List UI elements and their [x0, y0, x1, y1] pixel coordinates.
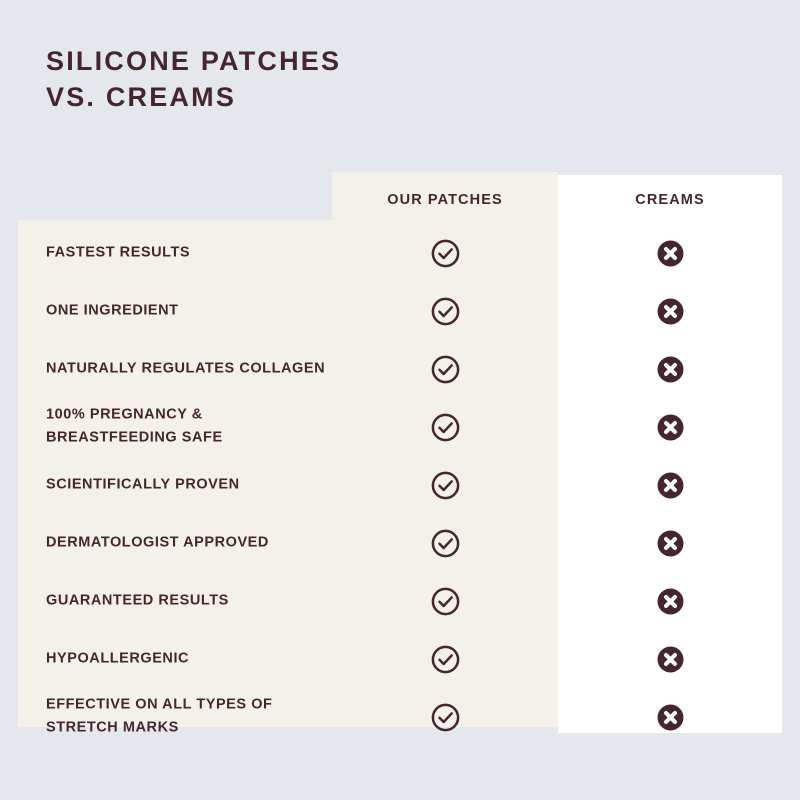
cell-patches-7 [332, 642, 558, 676]
check-circle-icon [430, 644, 461, 675]
comparison-table: OUR PATCHES CREAMS FASTEST RESULTS ONE I… [0, 0, 800, 800]
cell-creams-7 [558, 642, 782, 676]
cell-creams-6 [558, 584, 782, 618]
cell-creams-1 [558, 294, 782, 328]
check-circle-icon [430, 296, 461, 327]
cell-patches-4 [332, 468, 558, 502]
cross-circle-icon [655, 354, 686, 385]
cross-circle-icon [655, 238, 686, 269]
cell-patches-3 [332, 410, 558, 444]
cell-patches-0 [332, 236, 558, 270]
cell-creams-4 [558, 468, 782, 502]
table-row: GUARANTEED RESULTS [0, 572, 800, 630]
feature-label: ONE INGREDIENT [46, 299, 326, 322]
table-row: SCIENTIFICALLY PROVEN [0, 456, 800, 514]
cross-circle-icon [655, 586, 686, 617]
cross-circle-icon [655, 528, 686, 559]
cell-creams-5 [558, 526, 782, 560]
cell-patches-5 [332, 526, 558, 560]
check-circle-icon [430, 702, 461, 733]
cell-creams-3 [558, 410, 782, 444]
table-row: NATURALLY REGULATES COLLAGEN [0, 340, 800, 398]
feature-label: SCIENTIFICALLY PROVEN [46, 473, 326, 496]
cell-creams-2 [558, 352, 782, 386]
cell-patches-6 [332, 584, 558, 618]
cross-circle-icon [655, 296, 686, 327]
column-header-patches: OUR PATCHES [332, 190, 558, 210]
check-circle-icon [430, 412, 461, 443]
cell-patches-2 [332, 352, 558, 386]
cell-patches-8 [332, 700, 558, 734]
comparison-rows: FASTEST RESULTS ONE INGREDIENT [0, 224, 800, 746]
cross-circle-icon [655, 644, 686, 675]
check-circle-icon [430, 470, 461, 501]
cross-circle-icon [655, 702, 686, 733]
feature-label: GUARANTEED RESULTS [46, 589, 326, 612]
cross-circle-icon [655, 470, 686, 501]
cross-circle-icon [655, 412, 686, 443]
table-row: FASTEST RESULTS [0, 224, 800, 282]
check-circle-icon [430, 586, 461, 617]
table-row: 100% PREGNANCY & BREASTFEEDING SAFE [0, 398, 800, 456]
feature-label: FASTEST RESULTS [46, 241, 326, 264]
table-row: HYPOALLERGENIC [0, 630, 800, 688]
column-header-creams: CREAMS [558, 190, 782, 210]
check-circle-icon [430, 528, 461, 559]
feature-label: HYPOALLERGENIC [46, 647, 326, 670]
check-circle-icon [430, 238, 461, 269]
feature-label: EFFECTIVE ON ALL TYPES OF STRETCH MARKS [46, 694, 326, 741]
table-row: DERMATOLOGIST APPROVED [0, 514, 800, 572]
feature-label: NATURALLY REGULATES COLLAGEN [46, 357, 326, 380]
cell-creams-0 [558, 236, 782, 270]
feature-label: 100% PREGNANCY & BREASTFEEDING SAFE [46, 404, 326, 451]
feature-label: DERMATOLOGIST APPROVED [46, 531, 326, 554]
table-row: ONE INGREDIENT [0, 282, 800, 340]
check-circle-icon [430, 354, 461, 385]
cell-patches-1 [332, 294, 558, 328]
cell-creams-8 [558, 700, 782, 734]
table-row: EFFECTIVE ON ALL TYPES OF STRETCH MARKS [0, 688, 800, 746]
